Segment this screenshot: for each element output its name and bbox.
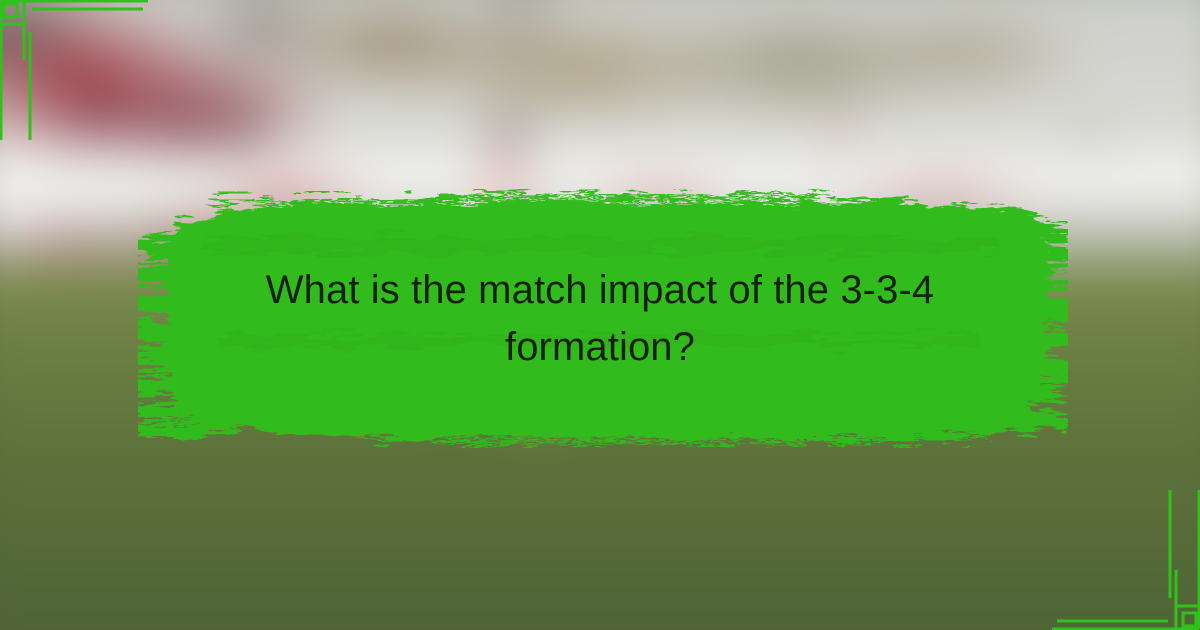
corner-bracket-bottom-right xyxy=(1030,460,1200,630)
corner-bracket-top-left xyxy=(0,0,170,170)
question-line-1: What is the match impact of the 3-3-4 xyxy=(266,268,934,312)
question-title: What is the match impact of the 3-3-4 fo… xyxy=(200,262,1000,376)
corner-bracket-top-left-icon xyxy=(0,0,170,170)
corner-bracket-bottom-right-icon xyxy=(1030,460,1200,630)
question-line-2: formation? xyxy=(505,325,695,369)
question-card: What is the match impact of the 3-3-4 fo… xyxy=(0,0,1200,630)
